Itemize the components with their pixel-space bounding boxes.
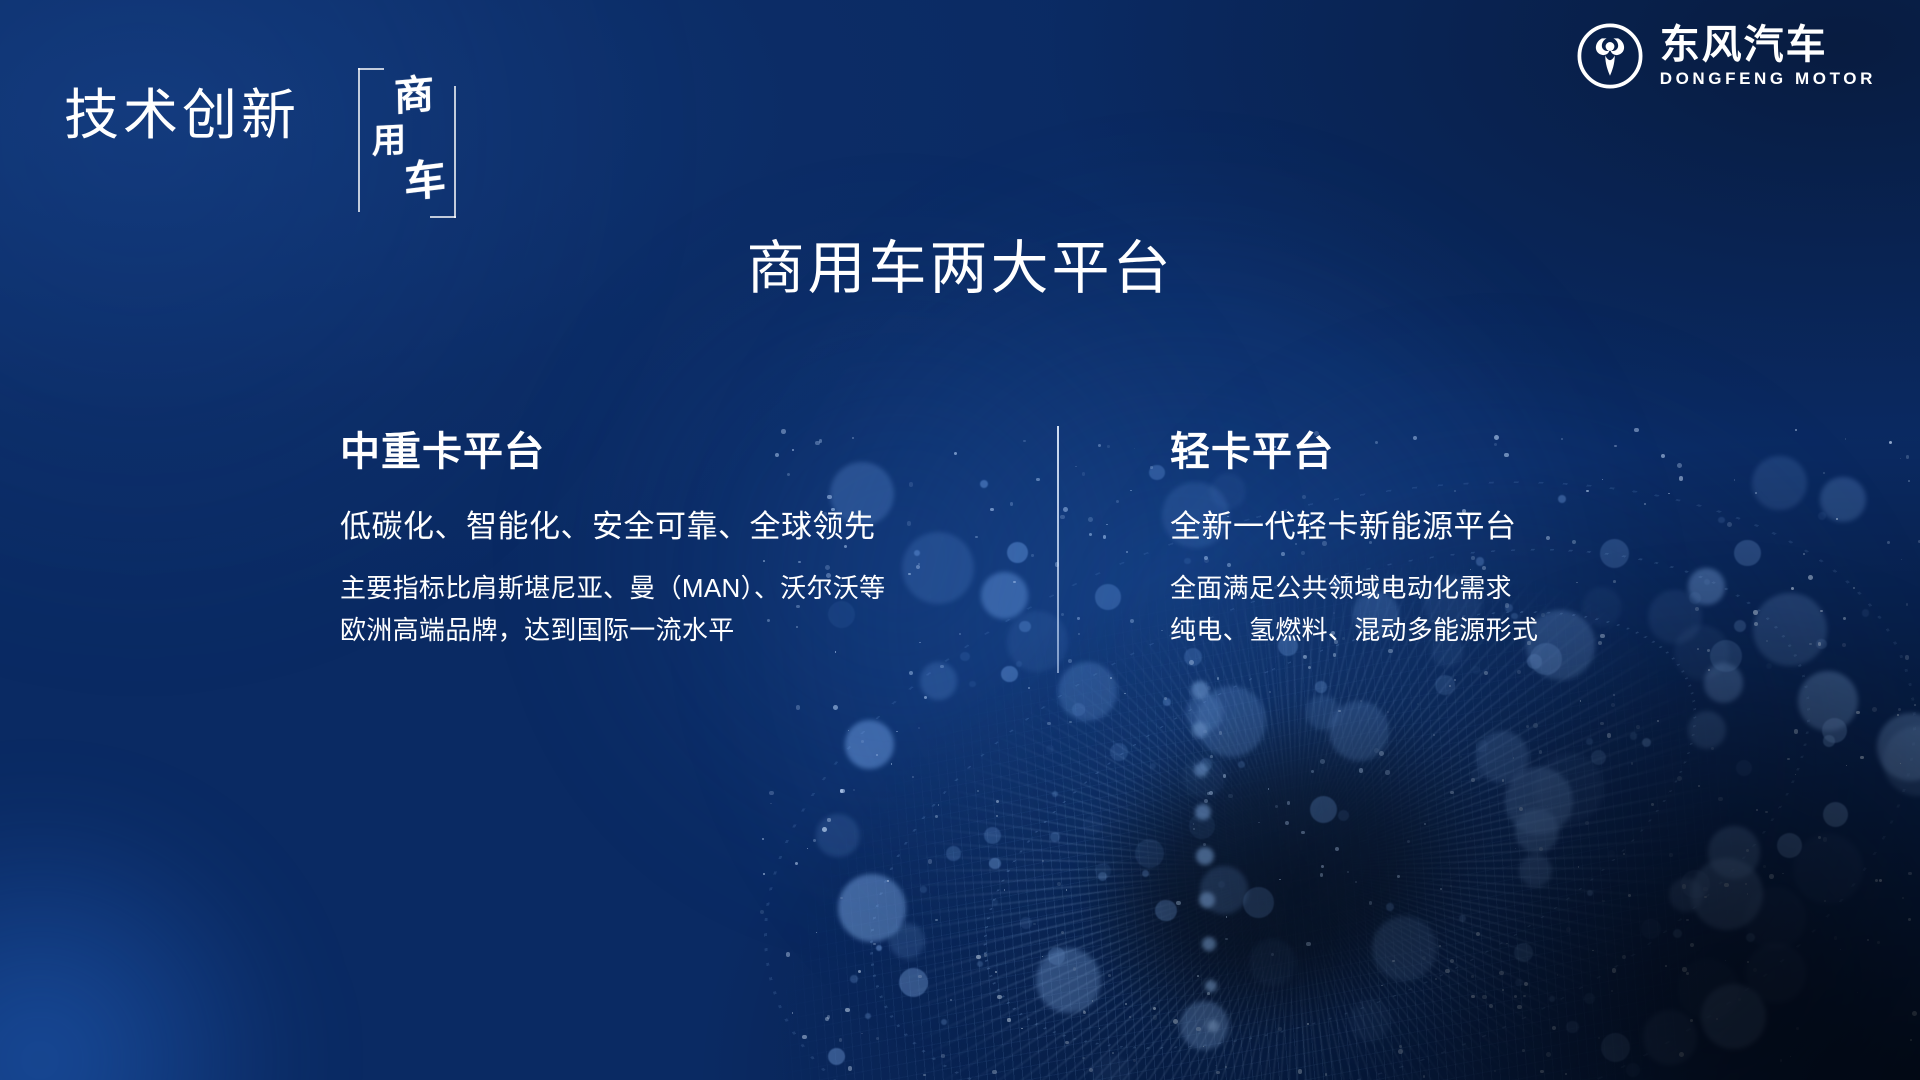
section-eyebrow-title: 技术创新 xyxy=(64,88,300,143)
seal-char-3: 车 xyxy=(403,157,446,204)
seal-char-2: 用 xyxy=(372,123,406,159)
column-body-line: 欧洲高端品牌，达到国际一流水平 xyxy=(340,609,1000,651)
seal-frame-left xyxy=(358,68,360,212)
column-lead-text: 低碳化、智能化、安全可靠、全球领先 xyxy=(340,508,1000,547)
brand-name-en: DONGFENG MOTOR xyxy=(1660,70,1876,87)
brand-name-cn: 东风汽车 xyxy=(1660,25,1876,65)
seal-characters: 商 用 车 xyxy=(374,72,440,206)
slide-main-title: 商用车两大平台 xyxy=(0,240,1920,298)
column-light-truck-platform: 轻卡平台 全新一代轻卡新能源平台 全面满足公共领域电动化需求 纯电、氢燃料、混动… xyxy=(1170,430,1830,651)
column-body-line: 主要指标比肩斯堪尼亚、曼（MAN）、沃尔沃等 xyxy=(340,567,1000,609)
column-title: 中重卡平台 xyxy=(340,430,1000,474)
brand-logo: 东风汽车 DONGFENG MOTOR xyxy=(1576,22,1876,90)
column-lead-text: 全新一代轻卡新能源平台 xyxy=(1170,508,1830,547)
column-body-line: 纯电、氢燃料、混动多能源形式 xyxy=(1170,609,1830,651)
background-glow xyxy=(0,800,300,1080)
column-medium-heavy-truck-platform: 中重卡平台 低碳化、智能化、安全可靠、全球领先 主要指标比肩斯堪尼亚、曼（MAN… xyxy=(340,430,1000,651)
presentation-slide: 技术创新 商 用 车 东风汽车 DONGFENG MOTOR 商用车两大平台 xyxy=(0,0,1920,1080)
seal-char-1: 商 xyxy=(394,74,435,118)
column-title: 轻卡平台 xyxy=(1170,430,1830,474)
brand-wordmark: 东风汽车 DONGFENG MOTOR xyxy=(1660,25,1876,87)
column-body-line: 全面满足公共领域电动化需求 xyxy=(1170,567,1830,609)
commercial-vehicle-seal: 商 用 车 xyxy=(358,64,456,212)
dongfeng-emblem-icon xyxy=(1576,22,1644,90)
seal-frame-right xyxy=(454,86,456,218)
column-divider xyxy=(1057,426,1059,673)
